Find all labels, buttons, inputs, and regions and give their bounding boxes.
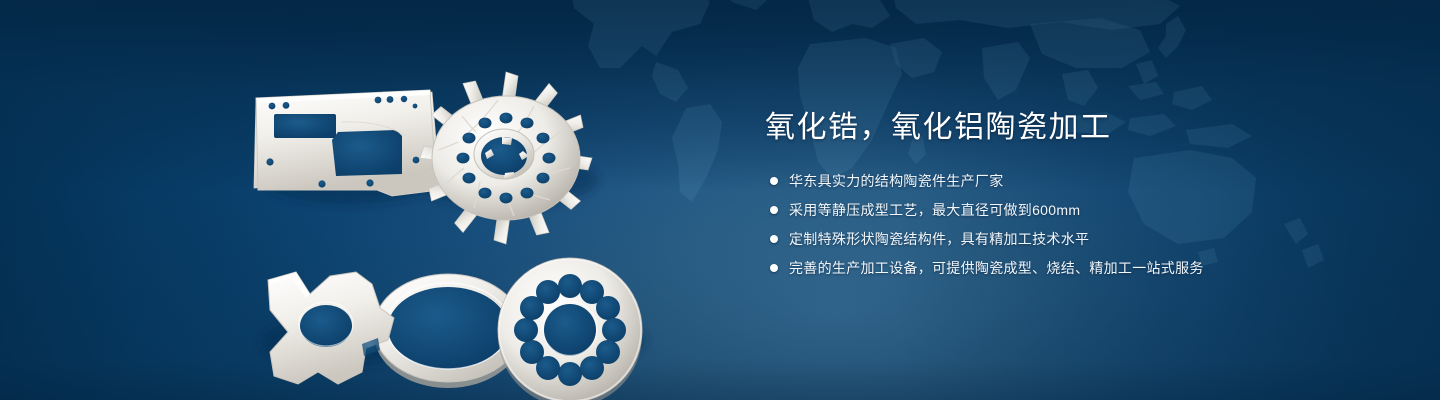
ceramic-hole-ring-disc <box>498 258 642 400</box>
ceramic-cross-plate <box>268 272 394 384</box>
bullet-item-2: 采用等静压成型工艺，最大直径可做到600mm <box>765 200 1365 220</box>
bullet-item-3: 定制特殊形状陶瓷结构件，具有精加工技术水平 <box>765 229 1365 249</box>
bullet-item-1: 华东具实力的结构陶瓷件生产厂家 <box>765 171 1365 191</box>
banner-headline: 氧化锆，氧化铝陶瓷加工 <box>765 108 1365 148</box>
bullet-dot-icon <box>770 235 778 243</box>
bullet-item-4: 完善的生产加工设备，可提供陶瓷成型、烧结、精加工一站式服务 <box>765 258 1365 278</box>
banner-bullet-list: 华东具实力的结构陶瓷件生产厂家 采用等静压成型工艺，最大直径可做到600mm 定… <box>765 171 1365 278</box>
ceramic-flat-plate <box>254 90 440 196</box>
bullet-text-3: 定制特殊形状陶瓷结构件，具有精加工技术水平 <box>789 229 1089 249</box>
bullet-text-4: 完善的生产加工设备，可提供陶瓷成型、烧结、精加工一站式服务 <box>789 258 1204 278</box>
bullet-text-2: 采用等静压成型工艺，最大直径可做到600mm <box>789 200 1080 220</box>
bullet-dot-icon <box>770 206 778 214</box>
bullet-dot-icon <box>770 177 778 185</box>
banner-copy: 氧化锆，氧化铝陶瓷加工 华东具实力的结构陶瓷件生产厂家 采用等静压成型工艺，最大… <box>765 108 1365 287</box>
ceramic-parts-photo <box>230 40 660 380</box>
promo-banner: 氧化锆，氧化铝陶瓷加工 华东具实力的结构陶瓷件生产厂家 采用等静压成型工艺，最大… <box>0 0 1440 400</box>
ceramic-impeller-disc <box>420 72 592 244</box>
bullet-dot-icon <box>770 264 778 272</box>
bullet-text-1: 华东具实力的结构陶瓷件生产厂家 <box>789 171 1004 191</box>
